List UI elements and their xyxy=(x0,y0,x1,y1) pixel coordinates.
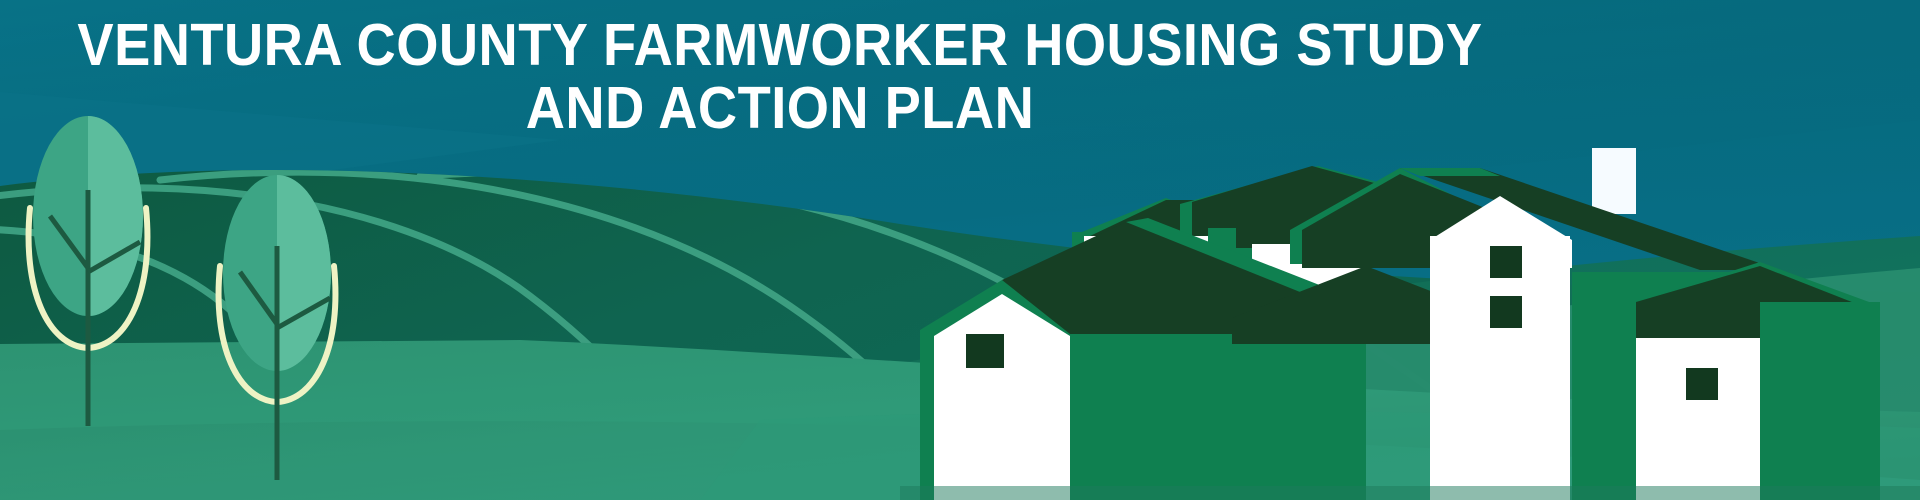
house-tall-gable-window-upper xyxy=(1490,246,1522,278)
site-banner: VENTURA COUNTY FARMWORKER HOUSING STUDY … xyxy=(0,0,1920,500)
house-small-right-window xyxy=(1686,368,1718,400)
house-front-gable-wall xyxy=(934,294,1070,500)
houses-ground-shadow xyxy=(900,486,1920,500)
house-mid-green-wall xyxy=(1232,318,1366,500)
house-small-right-wall xyxy=(1636,338,1760,500)
chimney xyxy=(1592,148,1636,214)
house-small-right-side-wall xyxy=(1760,302,1880,500)
house-tall-gable-window-lower xyxy=(1490,296,1522,328)
house-front-gable-side-wall xyxy=(1070,330,1230,500)
house-small-right xyxy=(1636,262,1880,500)
banner-illustration xyxy=(0,0,1920,500)
house-front-gable-window xyxy=(966,334,1004,368)
